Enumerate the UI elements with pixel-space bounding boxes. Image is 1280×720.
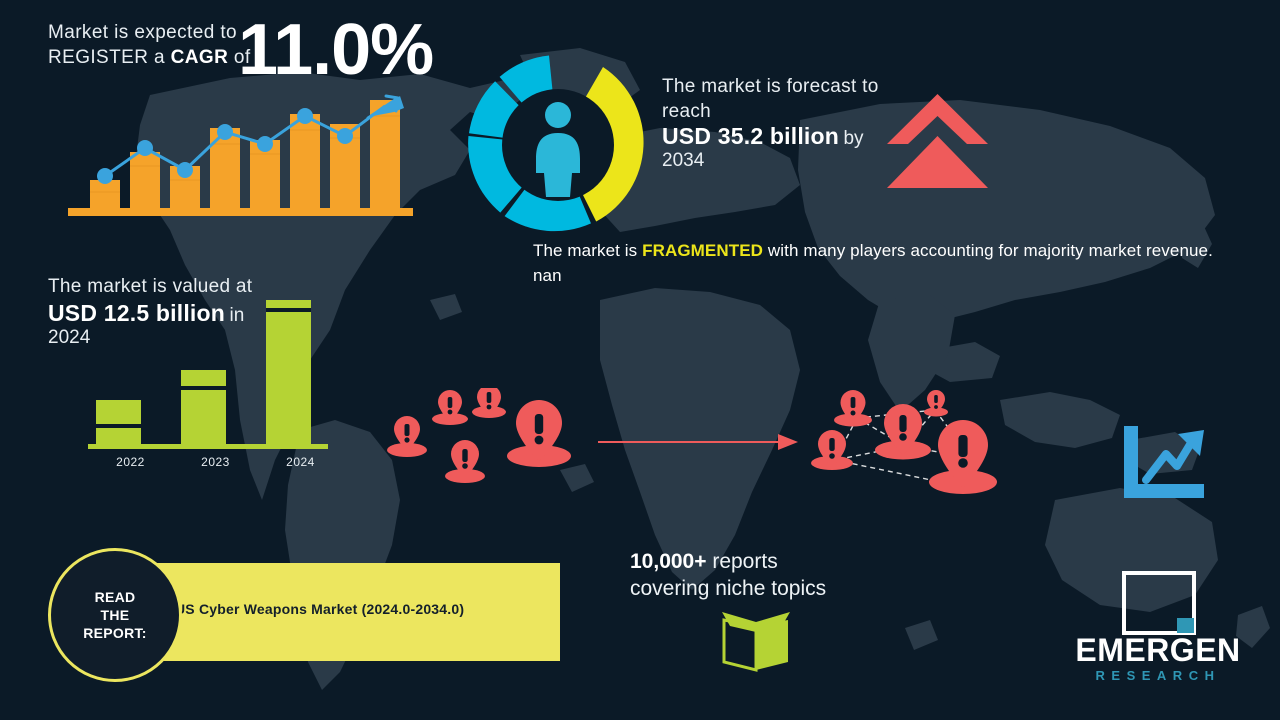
bar-label-2023: 2023: [173, 455, 258, 469]
map-pin-network-icon: [805, 388, 1015, 503]
read-the-report-badge[interactable]: READTHEREPORT:: [48, 548, 182, 682]
forecast-value: USD 35.2 billion: [662, 123, 839, 149]
forecast-line-1: The market is forecast to: [662, 74, 892, 99]
cagr-value: 11.0%: [238, 14, 433, 86]
reports-word: reports: [707, 550, 778, 573]
logo-name: EMERGEN: [1058, 632, 1258, 669]
growth-chart-icon: [1120, 424, 1206, 500]
valued-year: 2024: [48, 327, 90, 349]
fragmented-pre: The market is: [533, 241, 642, 260]
cagr-word-bold: CAGR: [171, 47, 229, 68]
reports-line-1: 10,000+ reports: [630, 548, 950, 575]
reports-line-2: covering niche topics: [630, 575, 950, 602]
fragmented-statement: The market is FRAGMENTED with many playe…: [533, 238, 1213, 288]
forecast-value-row: USD 35.2 billion by: [662, 123, 864, 150]
reports-text-block: 10,000+ reports covering niche topics: [630, 548, 950, 602]
infographic-canvas: Market is expected to REGISTER a CAGR of…: [0, 0, 1280, 720]
right-arrow-icon: [598, 432, 798, 452]
open-book-icon: [718, 608, 794, 672]
bar-label-2024: 2024: [258, 455, 343, 469]
read-the-report-label: READTHEREPORT:: [83, 588, 147, 642]
forecast-text-block: The market is forecast to reach: [662, 74, 892, 124]
cagr-growth-bar-chart: [68, 88, 413, 218]
square-outline-icon: [1121, 570, 1197, 636]
report-title: US Cyber Weapons Market (2024.0-2034.0): [175, 601, 464, 617]
cagr-line-2-pre: REGISTER a: [48, 47, 171, 68]
donut-person-icon: [468, 55, 648, 235]
double-chevron-up-icon: [885, 92, 990, 192]
fragmented-highlight: FRAGMENTED: [642, 241, 763, 260]
bar-label-2022: 2022: [88, 455, 173, 469]
map-pin-cluster-icon: [385, 388, 580, 493]
forecast-line-2: reach: [662, 99, 892, 124]
emergen-research-logo[interactable]: EMERGEN RESEARCH: [1058, 570, 1258, 700]
forecast-year: 2034: [662, 150, 704, 172]
market-value-bar-chart: [88, 295, 328, 450]
logo-subtitle: RESEARCH: [1058, 668, 1258, 683]
reports-count: 10,000+: [630, 550, 707, 573]
forecast-by-word: by: [843, 128, 863, 149]
